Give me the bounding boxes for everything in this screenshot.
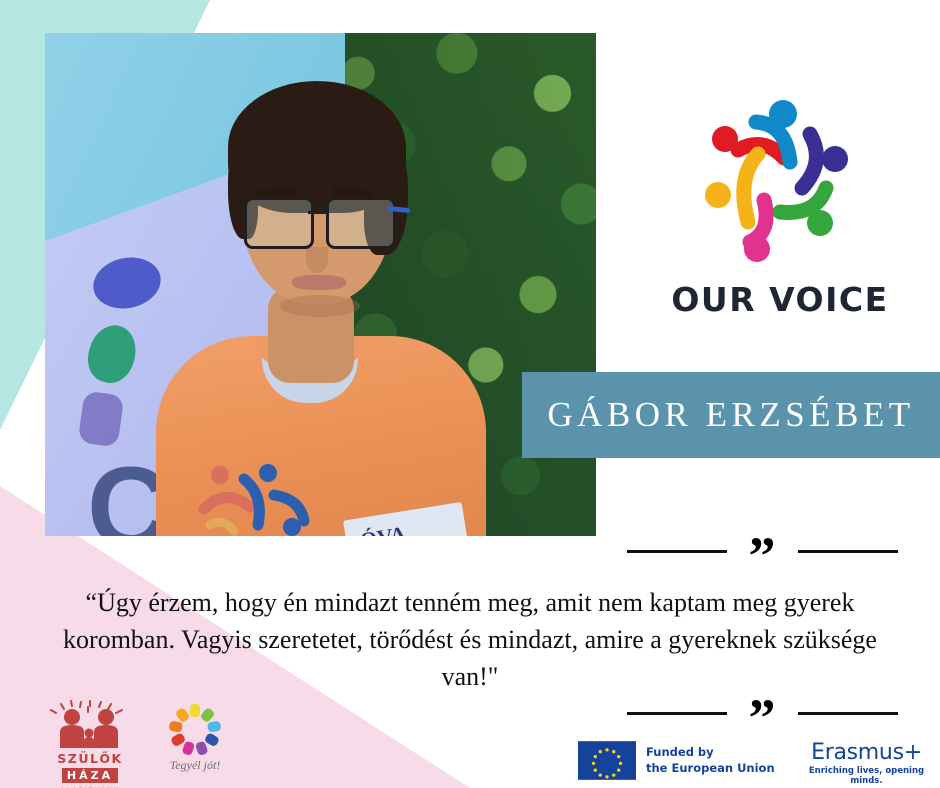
tshirt-print-logo	[192, 451, 352, 536]
hands-circle-icon	[155, 703, 235, 757]
erasmus-tagline: Enriching lives, opening minds.	[793, 766, 940, 786]
glasses-bridge	[308, 211, 328, 214]
our-voice-wordmark: OUR VOICE	[648, 280, 912, 319]
quote-divider-bottom: ”	[612, 712, 912, 715]
subject-nose	[306, 247, 328, 273]
poster-canvas: C ÓVA	[0, 0, 940, 788]
eu-funding-text: Funded by the European Union	[646, 745, 775, 775]
our-voice-logo: OUR VOICE	[648, 92, 912, 319]
eu-funding-logo: Funded by the European Union	[578, 741, 775, 780]
subject-lips	[292, 275, 346, 290]
glasses-lens-left	[244, 197, 314, 249]
eu-flag-icon	[578, 741, 636, 780]
divider-rule-right	[798, 712, 898, 715]
eu-funding-line1: Funded by	[646, 745, 775, 760]
erasmus-logo: Erasmus+ Enriching lives, opening minds.	[793, 740, 940, 786]
szulok-haza-logo: SZÜLŐK HÁZA ALAPÍTVÁNY	[42, 700, 138, 780]
eu-funding-line2: the European Union	[646, 761, 775, 776]
name-banner: GÁBOR ERZSÉBET	[522, 372, 940, 458]
divider-rule-right	[798, 550, 898, 553]
subject-chin-shadow	[280, 295, 360, 317]
subject-hair	[228, 81, 406, 213]
divider-rule-left	[627, 550, 727, 553]
glasses-lens-right	[326, 197, 396, 249]
quote-text: “Úgy érzem, hogy én mindazt tenném meg, …	[55, 585, 885, 696]
card-text: ÓVA	[358, 521, 408, 536]
subject-glasses	[242, 197, 398, 249]
szulok-haza-name-line1: SZÜLŐK	[42, 751, 138, 766]
quote-divider-top: ”	[612, 550, 912, 553]
parents-and-child-icon	[44, 700, 136, 750]
szulok-haza-name-line2: HÁZA	[62, 768, 118, 783]
our-voice-swirl-icon	[680, 92, 880, 270]
photo-subject: ÓVA	[150, 51, 480, 536]
divider-rule-left	[627, 712, 727, 715]
person-name: GÁBOR ERZSÉBET	[547, 395, 914, 435]
erasmus-name: Erasmus+	[793, 740, 940, 765]
portrait-photo: C ÓVA	[45, 33, 596, 536]
tegyel-jot-label: Tegyél jót!	[152, 758, 238, 773]
tegyel-jot-logo: Tegyél jót!	[152, 703, 238, 779]
